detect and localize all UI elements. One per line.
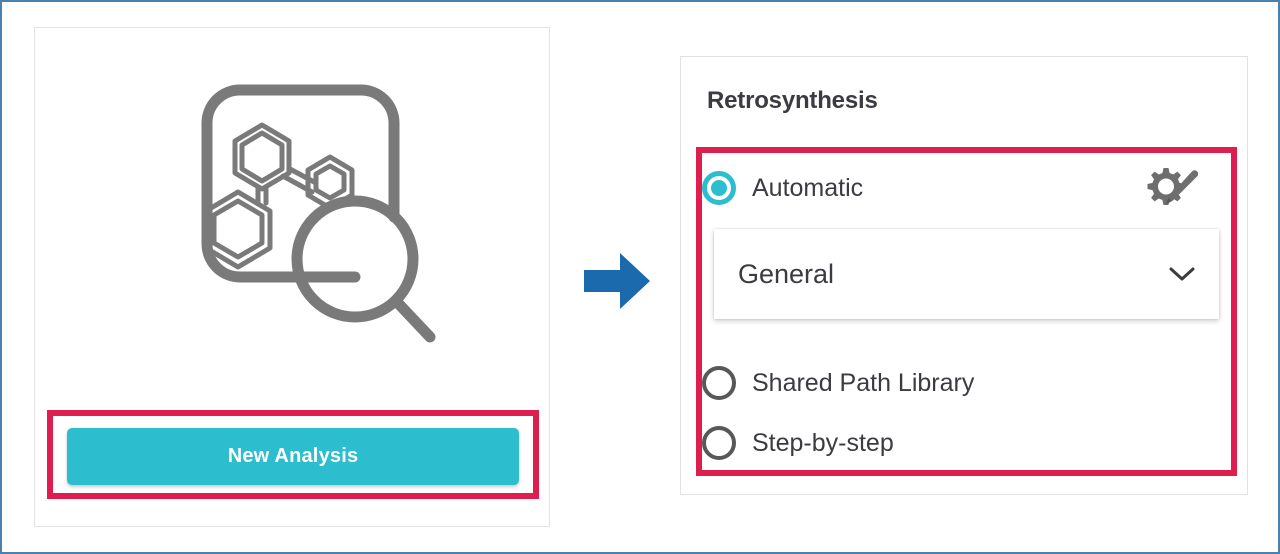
dropdown-selected-value: General: [738, 259, 834, 290]
radio-option-step-by-step[interactable]: Step-by-step: [702, 422, 894, 464]
retrosynthesis-options-group: Automatic: [702, 153, 1231, 470]
radio-button-shared-path-library[interactable]: [702, 366, 736, 400]
new-analysis-button[interactable]: New Analysis: [67, 428, 519, 485]
radio-label-automatic: Automatic: [752, 174, 863, 203]
page-title: Retrosynthesis: [707, 87, 878, 115]
radio-dot-icon: [711, 180, 727, 196]
radio-label-shared-path-library: Shared Path Library: [752, 369, 974, 398]
radio-option-shared-path-library[interactable]: Shared Path Library: [702, 362, 974, 404]
retrosynthesis-mode-dropdown[interactable]: General: [714, 229, 1219, 319]
chevron-down-icon: [1169, 266, 1195, 282]
retrosynthesis-panel: Retrosynthesis Automatic: [680, 56, 1248, 495]
radio-label-step-by-step: Step-by-step: [752, 429, 894, 458]
screenshot-root: New Analysis Retrosynthesis Automatic: [0, 0, 1280, 554]
radio-option-automatic[interactable]: Automatic: [702, 167, 863, 209]
gear-pencil-icon[interactable]: [1146, 167, 1198, 213]
molecule-search-icon: [140, 56, 450, 356]
radio-button-automatic[interactable]: [702, 171, 736, 205]
new-analysis-card: New Analysis: [34, 27, 550, 527]
radio-button-step-by-step[interactable]: [702, 426, 736, 460]
right-arrow-icon: [582, 250, 652, 312]
